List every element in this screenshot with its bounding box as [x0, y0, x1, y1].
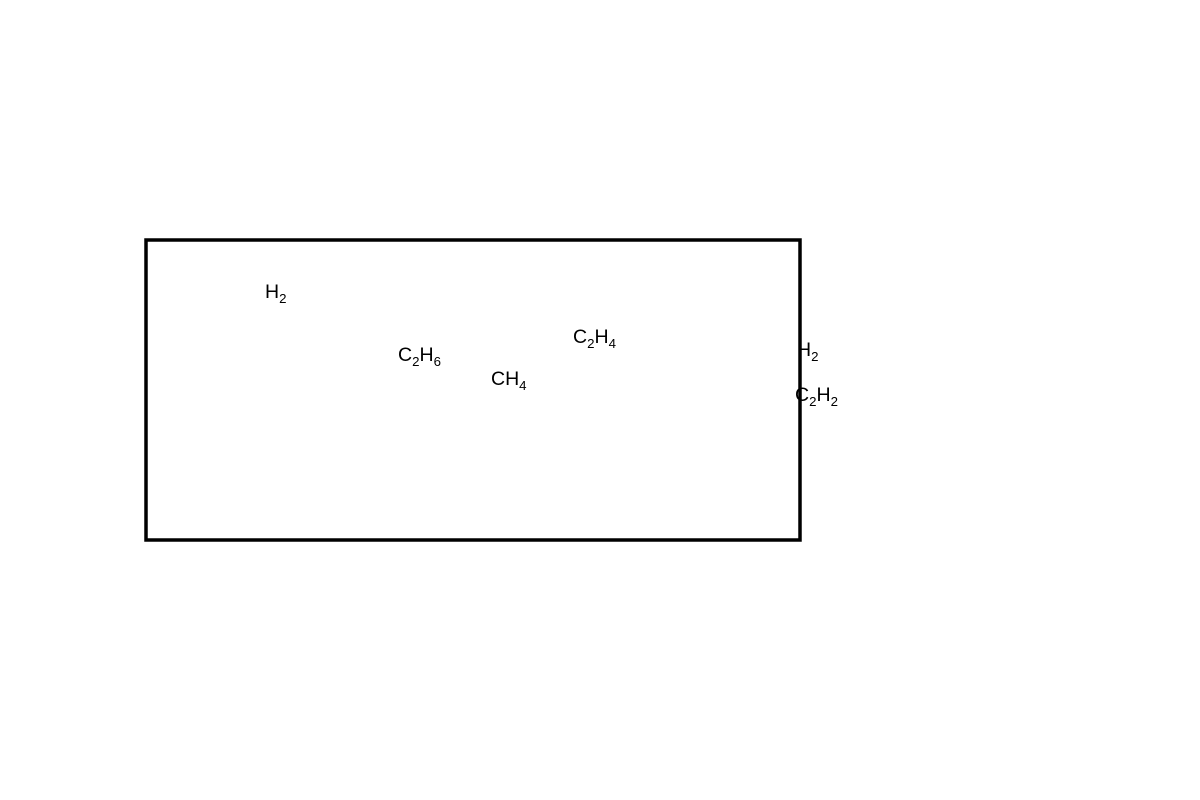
curve-label-c2h6-formula: C2H6	[398, 344, 441, 366]
gas-concentration-chart: H2 C2H6 CH4 C2H4 H2 C2H2	[0, 0, 860, 705]
plot-frame	[146, 240, 800, 540]
curve-label-h2-right: H2	[779, 320, 818, 363]
curve-label-c2h4-formula: C2H4	[573, 327, 616, 351]
curve-label-c2h2-formula: C2H2	[795, 384, 838, 406]
curve-label-h2: H2	[265, 282, 286, 306]
curve-label-ch4-formula: CH4	[491, 369, 527, 393]
curve-label-h2-formula: H2	[265, 281, 286, 303]
curve-label-ch4: CH4	[481, 349, 527, 392]
curve-label-c2h2: C2H2	[795, 385, 838, 409]
curve-label-h2-right-formula: H2	[797, 340, 818, 364]
curve-label-c2h6: C2H6	[398, 325, 441, 368]
curve-label-c2h4: C2H4	[569, 307, 616, 350]
slide: H2 C2H6 CH4 C2H4 H2 C2H2	[0, 0, 1200, 800]
